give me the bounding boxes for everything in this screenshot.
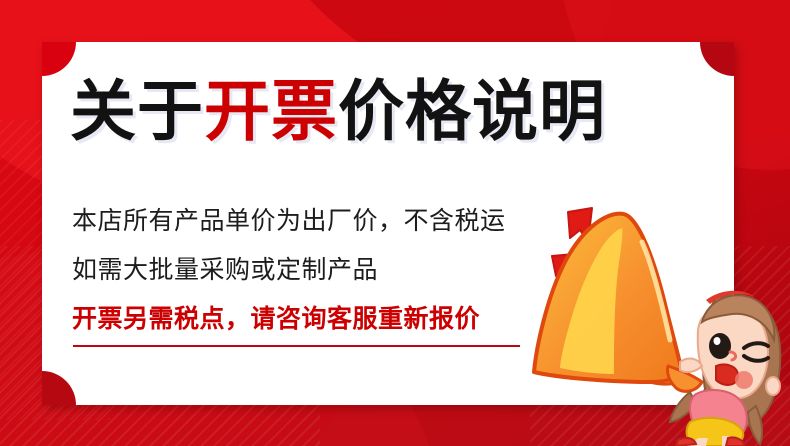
title-segment-3: 价格说明 bbox=[338, 74, 606, 148]
megaphone-icon bbox=[534, 214, 702, 392]
promo-banner: 关于开票价格说明 本店所有产品单价为出厂价，不含税运 如需大批量采购或定制产品 … bbox=[0, 0, 790, 446]
title-segment-1: 关于 bbox=[70, 74, 204, 148]
page-title: 关于开票价格说明 bbox=[70, 78, 606, 144]
title-segment-2-highlight: 开票 bbox=[204, 74, 338, 148]
illustration-megaphone-girl bbox=[530, 180, 790, 446]
body-line-2: 如需大批量采购或定制产品 bbox=[72, 246, 542, 295]
body-copy: 本店所有产品单价为出厂价，不含税运 如需大批量采购或定制产品 开票另需税点，请咨… bbox=[72, 197, 542, 344]
body-line-1: 本店所有产品单价为出厂价，不含税运 bbox=[72, 197, 542, 246]
girl-shouting-illustration bbox=[670, 291, 780, 446]
body-line-3-accent: 开票另需税点，请咨询客服重新报价 bbox=[72, 295, 542, 344]
divider-rule bbox=[73, 345, 520, 347]
